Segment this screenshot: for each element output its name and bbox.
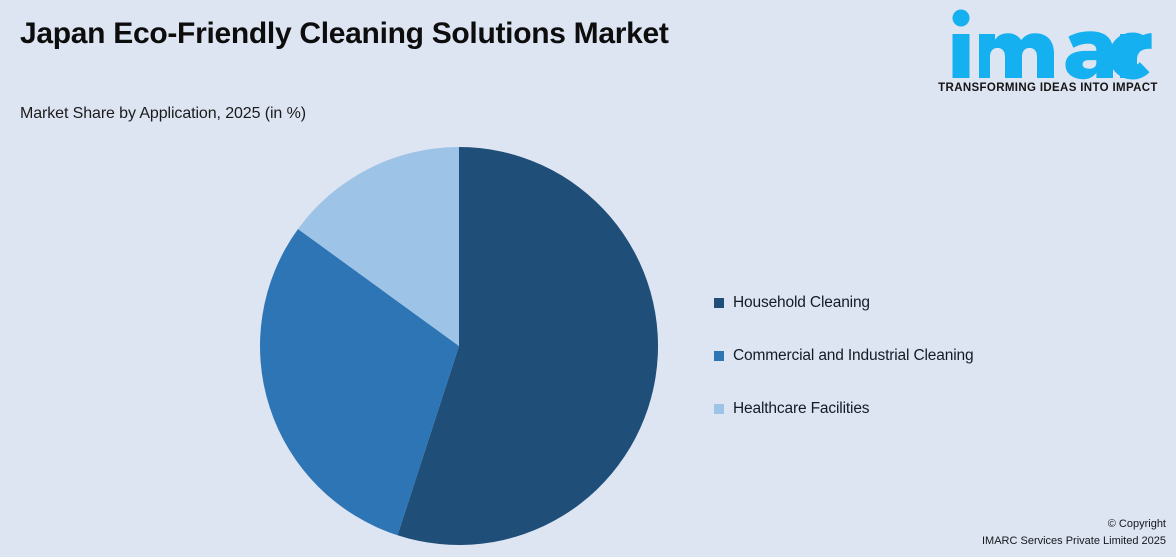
chart-legend: Household Cleaning Commercial and Indust… (714, 276, 1154, 435)
page-title: Japan Eco-Friendly Cleaning Solutions Ma… (20, 14, 700, 54)
legend-label-1: Commercial and Industrial Cleaning (733, 347, 973, 365)
pie-chart (259, 146, 660, 547)
legend-label-0: Household Cleaning (733, 294, 870, 312)
legend-swatch-icon-1 (714, 351, 724, 361)
copyright-notice: © Copyright IMARC Services Private Limit… (982, 516, 1166, 549)
logo-tagline: TRANSFORMING IDEAS INTO IMPACT (928, 82, 1168, 94)
legend-swatch-icon-0 (714, 298, 724, 308)
pie-chart-svg (259, 146, 660, 547)
imarc-logo: TRANSFORMING IDEAS INTO IMPACT (928, 8, 1168, 108)
copyright-line-1: © Copyright (982, 516, 1166, 533)
legend-swatch-icon-2 (714, 404, 724, 414)
imarc-wordmark-icon (934, 8, 1162, 80)
legend-item-1[interactable]: Commercial and Industrial Cleaning (714, 329, 1154, 382)
copyright-line-2: IMARC Services Private Limited 2025 (982, 533, 1166, 550)
chart-subtitle: Market Share by Application, 2025 (in %) (20, 105, 306, 123)
legend-item-2[interactable]: Healthcare Facilities (714, 382, 1154, 435)
legend-item-0[interactable]: Household Cleaning (714, 276, 1154, 329)
chart-canvas: Japan Eco-Friendly Cleaning Solutions Ma… (0, 0, 1176, 557)
legend-label-2: Healthcare Facilities (733, 400, 869, 418)
